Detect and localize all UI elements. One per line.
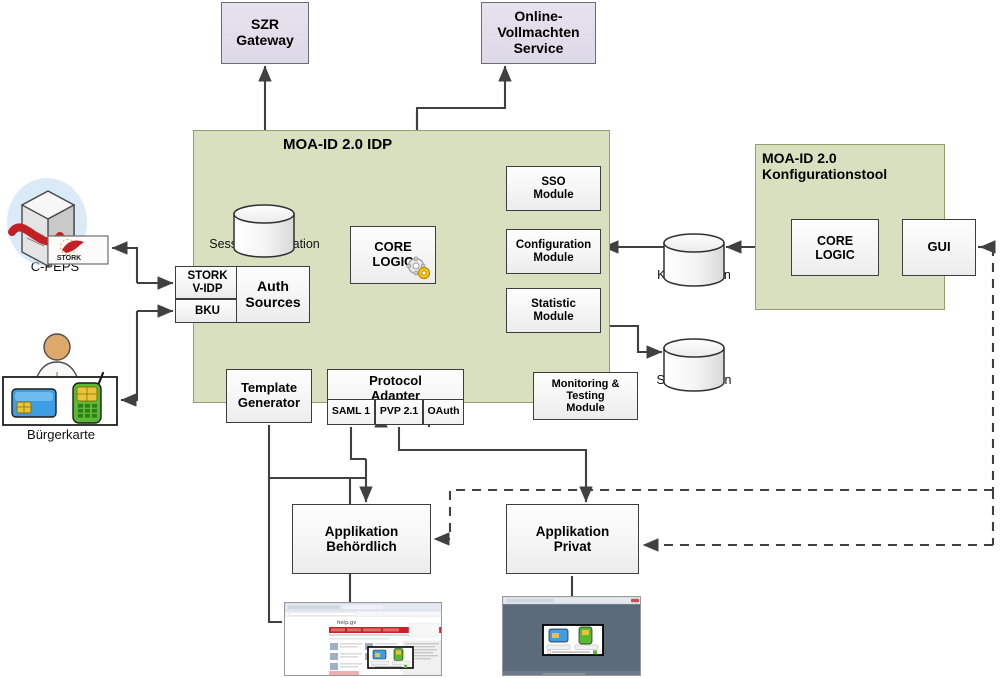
node-gui[interactable]: GUI	[902, 219, 976, 276]
node-bku[interactable]: BKU	[175, 299, 240, 323]
login-widget-highlight-privat	[543, 625, 603, 655]
node-applikation-behoerdlich[interactable]: Applikation Behördlich	[292, 504, 431, 574]
session-information-caption: Session Information	[207, 237, 322, 251]
node-auth-sources[interactable]: Auth Sources	[236, 266, 310, 323]
moa-id-idp-title: MOA-ID 2.0 IDP	[283, 136, 392, 153]
konfigurationstool-title: MOA-ID 2.0 Konfigurationstool	[762, 150, 887, 182]
browser-screenshot-behoerdlich[interactable]: help.gv	[284, 602, 442, 676]
svg-text:help.gv: help.gv	[337, 620, 357, 626]
konfiguration-caption: Konfiguration	[636, 268, 752, 282]
node-protocol-saml-1[interactable]: SAML 1	[327, 399, 375, 425]
node-stork-v-idp[interactable]: STORK V-IDP	[175, 266, 240, 299]
node-konfig-core-logic[interactable]: CORE LOGIC	[791, 219, 879, 276]
node-statistic-module[interactable]: Statistic Module	[506, 288, 601, 333]
node-protocol-oauth[interactable]: OAuth	[423, 399, 464, 425]
login-widget-highlight	[368, 647, 413, 668]
node-core-logic[interactable]: CORE LOGIC	[350, 226, 436, 284]
node-sso-module[interactable]: SSO Module	[506, 166, 601, 211]
buergerkarte-caption: Bürgerkarte	[0, 428, 122, 443]
c-peps-caption: C-PEPS	[0, 260, 110, 275]
browser-screenshot-privat[interactable]	[502, 596, 641, 676]
node-monitoring-testing-module[interactable]: Monitoring & Testing Module	[533, 372, 638, 420]
statistikdaten-caption: Statistikdaten	[636, 373, 752, 387]
node-applikation-privat[interactable]: Applikation Privat	[506, 504, 639, 574]
node-configuration-module[interactable]: Configuration Module	[506, 229, 601, 274]
node-online-vollmachten-service[interactable]: Online- Vollmachten Service	[481, 2, 596, 64]
node-template-generator[interactable]: Template Generator	[226, 369, 312, 423]
diagram-canvas: MOA-ID 2.0 IDP MOA-ID 2.0 Konfigurations…	[0, 0, 1000, 678]
node-protocol-pvp-2-1[interactable]: PVP 2.1	[375, 399, 423, 425]
node-szr-gateway[interactable]: SZR Gateway	[221, 2, 309, 64]
